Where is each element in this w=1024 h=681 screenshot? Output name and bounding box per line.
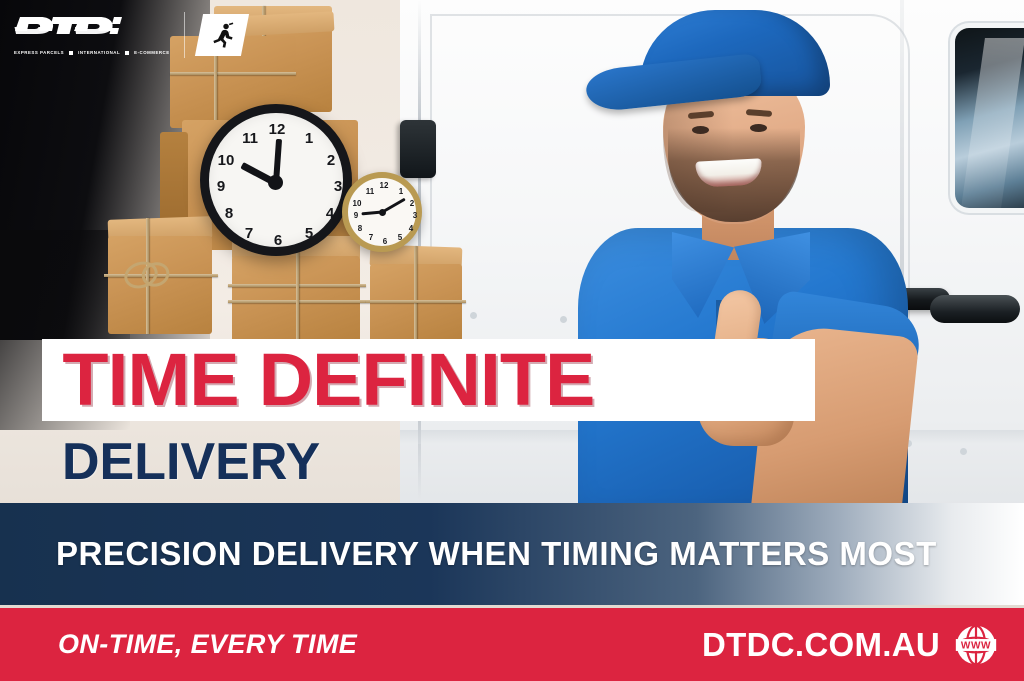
parcel-twine bbox=[170, 72, 296, 75]
logo-primary: EXPRESS PARCELS INTERNATIONAL E-COMMERCE bbox=[14, 15, 170, 55]
globe-www-icon: WWW bbox=[954, 623, 998, 667]
logo-tagline-international: INTERNATIONAL bbox=[78, 50, 120, 55]
courier-eye bbox=[750, 124, 767, 132]
headline-band: TIME DEFINITE bbox=[42, 339, 815, 421]
logo-service-taglines: EXPRESS PARCELS INTERNATIONAL E-COMMERCE bbox=[14, 50, 170, 55]
logo-separator-icon bbox=[69, 51, 73, 55]
clock-hub bbox=[268, 175, 283, 190]
page-title: TIME DEFINITE bbox=[42, 343, 594, 417]
website-link[interactable]: DTDC.COM.AU WWW bbox=[702, 623, 998, 667]
promo-banner: 12 1 2 3 4 5 6 7 8 9 10 11 12 1 2 3 4 5 … bbox=[0, 0, 1024, 681]
description-text: PRECISION DELIVERY WHEN TIMING MATTERS M… bbox=[0, 535, 937, 574]
van-mirror bbox=[400, 120, 436, 178]
van-rear-handle bbox=[930, 295, 1020, 323]
desk-clock: 12 1 2 3 4 5 6 7 8 9 10 11 bbox=[342, 172, 422, 252]
parcel-twine bbox=[414, 246, 417, 342]
van-rivet bbox=[960, 448, 967, 455]
logo-tagline-express: EXPRESS PARCELS bbox=[14, 50, 64, 55]
svg-text:WWW: WWW bbox=[961, 640, 991, 651]
logo-tagline-ecommerce: E-COMMERCE bbox=[134, 50, 170, 55]
running-man-icon bbox=[209, 22, 235, 48]
courier-eye bbox=[692, 126, 709, 134]
dtdc-logo[interactable]: EXPRESS PARCELS INTERNATIONAL E-COMMERCE bbox=[14, 12, 245, 58]
logo-divider bbox=[184, 12, 185, 58]
van-rivet bbox=[470, 312, 477, 319]
description-band: PRECISION DELIVERY WHEN TIMING MATTERS M… bbox=[0, 503, 1024, 605]
website-url-text: DTDC.COM.AU bbox=[702, 626, 940, 664]
footer-band: ON-TIME, EVERY TIME DTDC.COM.AU WWW bbox=[0, 608, 1024, 681]
clock-hub bbox=[379, 209, 386, 216]
courier-figure bbox=[520, 0, 920, 520]
van-window bbox=[955, 28, 1024, 208]
page-subtitle: DELIVERY bbox=[62, 436, 320, 488]
logo-separator-icon bbox=[125, 51, 129, 55]
dtdc-wordmark-icon bbox=[14, 15, 122, 45]
runner-badge bbox=[195, 14, 249, 56]
tagline-text: ON-TIME, EVERY TIME bbox=[58, 629, 357, 660]
wall-clock: 12 1 2 3 4 5 6 7 8 9 10 11 bbox=[200, 104, 352, 256]
parcel-twine bbox=[366, 300, 466, 303]
